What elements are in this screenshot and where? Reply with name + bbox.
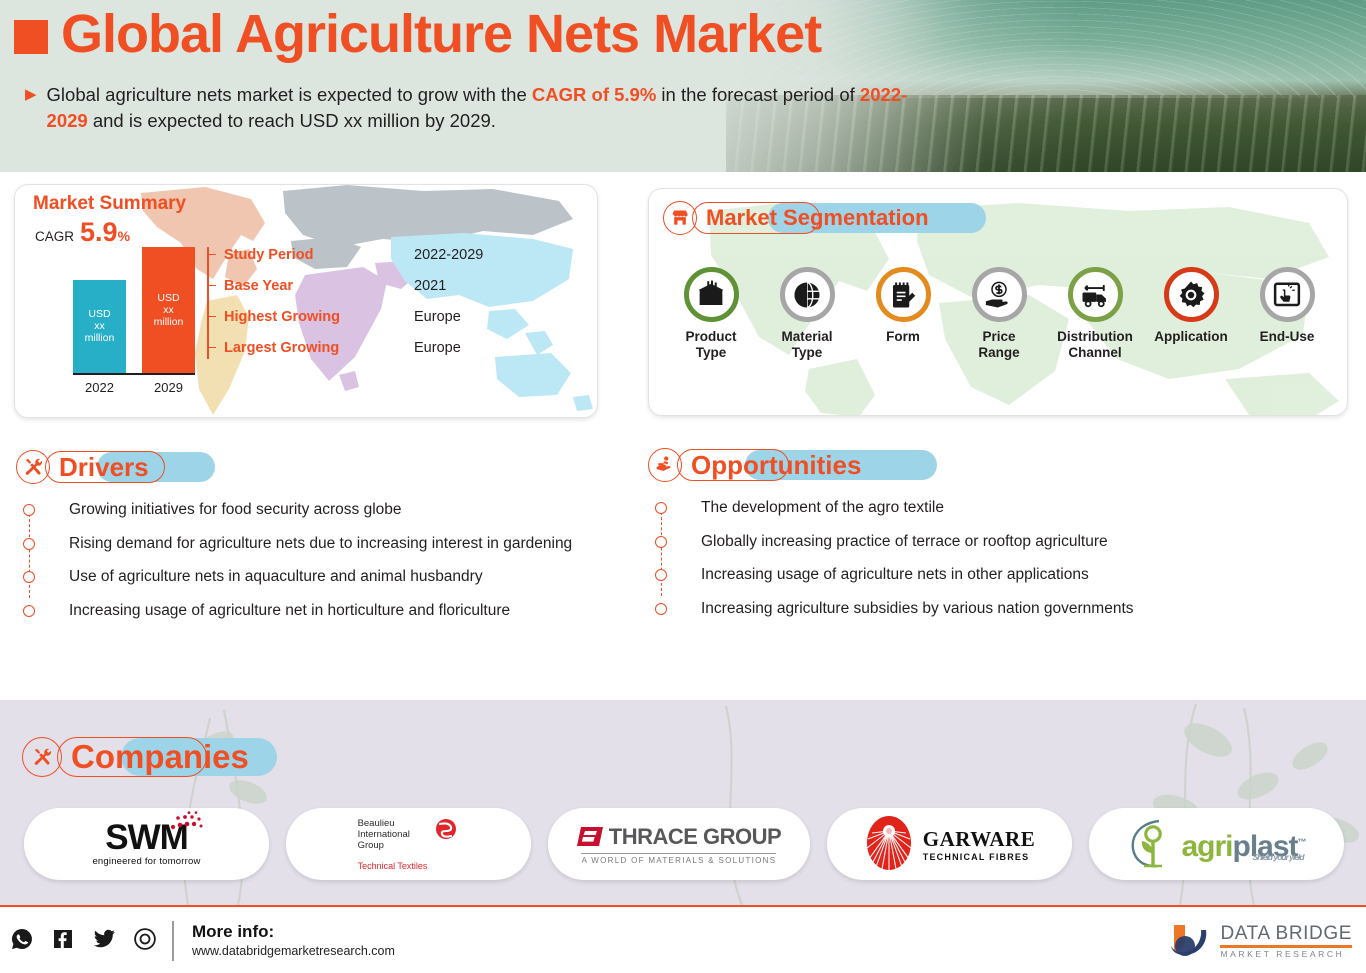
drivers-list: Growing initiatives for food security ac…: [16, 500, 616, 620]
summary-value: Europe: [414, 340, 461, 356]
swm-tagline: engineered for tomorrow: [92, 856, 200, 867]
x-tick-2022: 2022: [73, 380, 126, 395]
brand-rule: [1220, 945, 1352, 948]
social-links: [10, 927, 157, 956]
bar-2022-label-l2: xx: [94, 320, 105, 332]
row-tick: [207, 347, 216, 349]
companies-title: Companies: [57, 736, 263, 778]
opportunities-section: Opportunities The development of the agr…: [648, 448, 1248, 632]
garware-tagline: TECHNICAL FIBRES: [923, 852, 1035, 862]
drivers-title: Drivers: [45, 450, 163, 484]
bullet-dot-icon: [655, 569, 667, 581]
footer-divider: [172, 921, 174, 961]
market-size-bar-chart: USD xx million USD xx million 2022 2029: [73, 247, 195, 395]
bullet-dot-icon: [655, 502, 667, 514]
segment-label: DistributionChannel: [1057, 329, 1133, 361]
summary-row-largest-growing: Largest Growing Europe: [207, 332, 577, 363]
list-item: Increasing agriculture subsidies by vari…: [672, 599, 1248, 619]
segment-price-range[interactable]: PriceRange: [953, 267, 1045, 361]
segment-label: End-Use: [1260, 329, 1315, 345]
beaulieu-swirl-icon: [433, 818, 459, 844]
box-icon: [684, 267, 739, 322]
segment-label: Form: [886, 329, 920, 345]
summary-row-base-year: Base Year 2021: [207, 270, 577, 301]
cagr-value: 5.9: [80, 217, 118, 248]
drivers-section: Drivers Growing initiatives for food sec…: [16, 450, 616, 634]
opportunity-text: Globally increasing practice of terrace …: [701, 532, 1221, 552]
segmentation-items: ProductType MaterialType Form PriceRange: [665, 267, 1333, 361]
opportunities-title: Opportunities: [677, 448, 875, 482]
instagram-icon[interactable]: [133, 927, 157, 956]
segment-end-use[interactable]: End-Use: [1241, 267, 1333, 345]
bullet-dot-icon: [655, 603, 667, 615]
more-info-block: More info: www.databridgemarketresearch.…: [192, 922, 395, 958]
header-subtitle: ▶ Global agriculture nets market is expe…: [25, 82, 925, 134]
bullet-dot-icon: [23, 504, 35, 516]
bar-2029-label-l2: xx: [163, 304, 174, 316]
gear-icon: [1164, 267, 1219, 322]
segment-label: ProductType: [685, 329, 736, 361]
market-segmentation-badge: Market Segmentation: [663, 201, 943, 235]
agriplast-plant-icon: [1127, 819, 1181, 869]
list-item: The development of the agro textile: [672, 498, 1248, 518]
row-tick: [207, 285, 216, 287]
agriplast-logo: agriplast™Shield your yield: [1127, 819, 1305, 869]
arrow-icon: ▶: [25, 82, 37, 134]
beaulieu-logo: Beaulieu International Group Technical T…: [358, 818, 460, 871]
opportunities-list: The development of the agro textile Glob…: [648, 498, 1248, 618]
list-item: Use of agriculture nets in aquaculture a…: [40, 567, 616, 587]
bullet-dot-icon: [23, 571, 35, 583]
bar-group: USD xx million USD xx million: [73, 247, 195, 373]
badge-wrap: Opportunities: [677, 448, 875, 482]
swm-logo: SWM engineered for tomorrow: [92, 821, 200, 867]
x-tick-2029: 2029: [142, 380, 195, 395]
driver-text: Use of agriculture nets in aquaculture a…: [69, 567, 589, 587]
summary-value: 2021: [414, 278, 446, 294]
drivers-badge: Drivers: [16, 450, 616, 484]
bar-2022-label-l3: million: [85, 332, 115, 344]
twitter-icon[interactable]: [92, 927, 116, 956]
data-bridge-text: DATA BRIDGE MARKET RESEARCH: [1220, 924, 1352, 958]
thrace-tagline: A WORLD OF MATERIALS & SOLUTIONS: [577, 856, 781, 865]
brand-subtitle: MARKET RESEARCH: [1220, 950, 1352, 959]
segment-application[interactable]: Application: [1145, 267, 1237, 345]
driver-text: Increasing usage of agriculture net in h…: [69, 601, 589, 621]
beaulieu-line3: Group: [358, 840, 428, 851]
notepad-pencil-icon: [876, 267, 931, 322]
opportunity-text: The development of the agro textile: [701, 498, 1221, 518]
list-item: Globally increasing practice of terrace …: [672, 532, 1248, 552]
driver-text: Growing initiatives for food security ac…: [69, 500, 589, 520]
garware-text: GARWARE TECHNICAL FIBRES: [923, 827, 1035, 862]
data-bridge-mark-icon: [1166, 921, 1212, 961]
opportunity-text: Increasing agriculture subsidies by vari…: [701, 599, 1221, 619]
thrace-wordmark: THRACE GROUP: [609, 824, 781, 850]
list-item: Rising demand for agriculture nets due t…: [40, 534, 616, 554]
bullet-dot-icon: [655, 536, 667, 548]
segment-material-type[interactable]: MaterialType: [761, 267, 853, 361]
bullet-dot-icon: [23, 538, 35, 550]
delivery-truck-icon: [1068, 267, 1123, 322]
badge-wrap: Drivers: [45, 450, 163, 484]
facebook-icon[interactable]: [51, 927, 75, 956]
companies-badge: Companies: [22, 736, 263, 778]
company-logo-swm[interactable]: SWM engineered for tomorrow: [24, 808, 269, 880]
summary-value: 2022-2029: [414, 247, 483, 263]
tools-icon: [22, 737, 62, 777]
brand-name: DATA BRIDGE: [1220, 924, 1352, 943]
summary-row-study-period: Study Period 2022-2029: [207, 239, 577, 270]
bar-2022: USD xx million: [73, 280, 126, 373]
driver-text: Rising demand for agriculture nets due t…: [69, 534, 589, 554]
garware-logo: GARWARE TECHNICAL FIBRES: [864, 815, 1035, 873]
segment-label: PriceRange: [978, 329, 1019, 361]
badge-wrap: Market Segmentation: [692, 203, 943, 233]
badge-wrap: Companies: [57, 736, 263, 778]
summary-detail-list: Study Period 2022-2029 Base Year 2021 Hi…: [207, 239, 577, 363]
subtitle-text: Global agriculture nets market is expect…: [47, 82, 925, 134]
market-segmentation-card: Market Segmentation ProductType Material…: [648, 188, 1348, 416]
company-logo-thrace[interactable]: THRACE GROUP A WORLD OF MATERIALS & SOLU…: [548, 808, 810, 880]
swm-dots-icon: [155, 811, 205, 835]
list-item: Increasing usage of agriculture nets in …: [672, 565, 1248, 585]
summary-key: Largest Growing: [224, 340, 414, 356]
beaulieu-line2: International: [358, 829, 428, 840]
chart-x-axis: [73, 373, 195, 375]
chart-x-tick-labels: 2022 2029: [73, 380, 195, 395]
data-bridge-logo: DATA BRIDGE MARKET RESEARCH: [1166, 921, 1352, 961]
hand-dollar-icon: [972, 267, 1027, 322]
whatsapp-icon[interactable]: [10, 927, 34, 956]
opportunity-text: Increasing usage of agriculture nets in …: [701, 565, 1221, 585]
beaulieu-line1: Beaulieu: [358, 818, 428, 829]
company-logo-agriplast[interactable]: agriplast™Shield your yield: [1089, 808, 1344, 880]
segment-form[interactable]: Form: [857, 267, 949, 345]
title-bullet-square: [14, 20, 48, 54]
list-item: Increasing usage of agriculture net in h…: [40, 601, 616, 621]
summary-key: Study Period: [224, 247, 414, 263]
cagr-row: CAGR 5.9 %: [35, 217, 130, 248]
bullet-dot-icon: [23, 605, 35, 617]
list-item: Growing initiatives for food security ac…: [40, 500, 616, 520]
segment-label: MaterialType: [781, 329, 832, 361]
summary-key: Base Year: [224, 278, 414, 294]
website-url[interactable]: www.databridgemarketresearch.com: [192, 944, 395, 958]
market-summary-title: Market Summary: [33, 193, 186, 215]
summary-value: Europe: [414, 309, 461, 325]
agriplast-tagline: Shield your yield: [1253, 842, 1304, 872]
more-info-label: More info:: [192, 922, 395, 942]
screen-touch-icon: [1260, 267, 1315, 322]
title-row: Global Agriculture Nets Market: [14, 6, 821, 63]
garware-sunburst-icon: [864, 815, 914, 873]
beaulieu-tagline: Technical Textiles: [358, 861, 428, 871]
garware-wordmark: GARWARE: [923, 827, 1035, 852]
row-tick: [207, 254, 216, 256]
company-logo-beaulieu[interactable]: Beaulieu International Group Technical T…: [286, 808, 531, 880]
bar-2022-label-l1: USD: [88, 308, 110, 320]
bar-2029: USD xx million: [142, 247, 195, 373]
thrace-logo: THRACE GROUP A WORLD OF MATERIALS & SOLU…: [577, 824, 781, 865]
segment-product-type[interactable]: ProductType: [665, 267, 757, 361]
thrace-mark-icon: [577, 827, 603, 846]
row-tick: [207, 316, 216, 318]
company-logo-row: SWM engineered for tomorrow Beaulieu Int…: [24, 808, 1344, 880]
thrace-top: THRACE GROUP: [577, 824, 781, 850]
segment-distribution-channel[interactable]: DistributionChannel: [1049, 267, 1141, 361]
opportunities-badge: Opportunities: [648, 448, 1248, 482]
bar-2029-label-l3: million: [154, 316, 184, 328]
page-title: Global Agriculture Nets Market: [61, 6, 821, 63]
company-logo-garware[interactable]: GARWARE TECHNICAL FIBRES: [827, 808, 1072, 880]
bar-2029-label-l1: USD: [157, 292, 179, 304]
market-segmentation-title: Market Segmentation: [692, 203, 943, 233]
agriplast-wordmark: agriplast™Shield your yield: [1181, 827, 1305, 862]
thrace-divider: [581, 853, 776, 854]
summary-row-highest-growing: Highest Growing Europe: [207, 301, 577, 332]
companies-section: Companies SWM engineered for tomorrow: [0, 700, 1366, 905]
globe-icon: [780, 267, 835, 322]
cagr-label: CAGR: [35, 229, 74, 244]
segment-label: Application: [1154, 329, 1228, 345]
market-summary-card: Market Summary CAGR 5.9 % USD xx million…: [14, 184, 598, 418]
page-footer: More info: www.databridgemarketresearch.…: [0, 905, 1366, 973]
cagr-percent-sign: %: [118, 228, 130, 244]
summary-key: Highest Growing: [224, 309, 414, 325]
page-header: Global Agriculture Nets Market ▶ Global …: [0, 0, 1366, 172]
